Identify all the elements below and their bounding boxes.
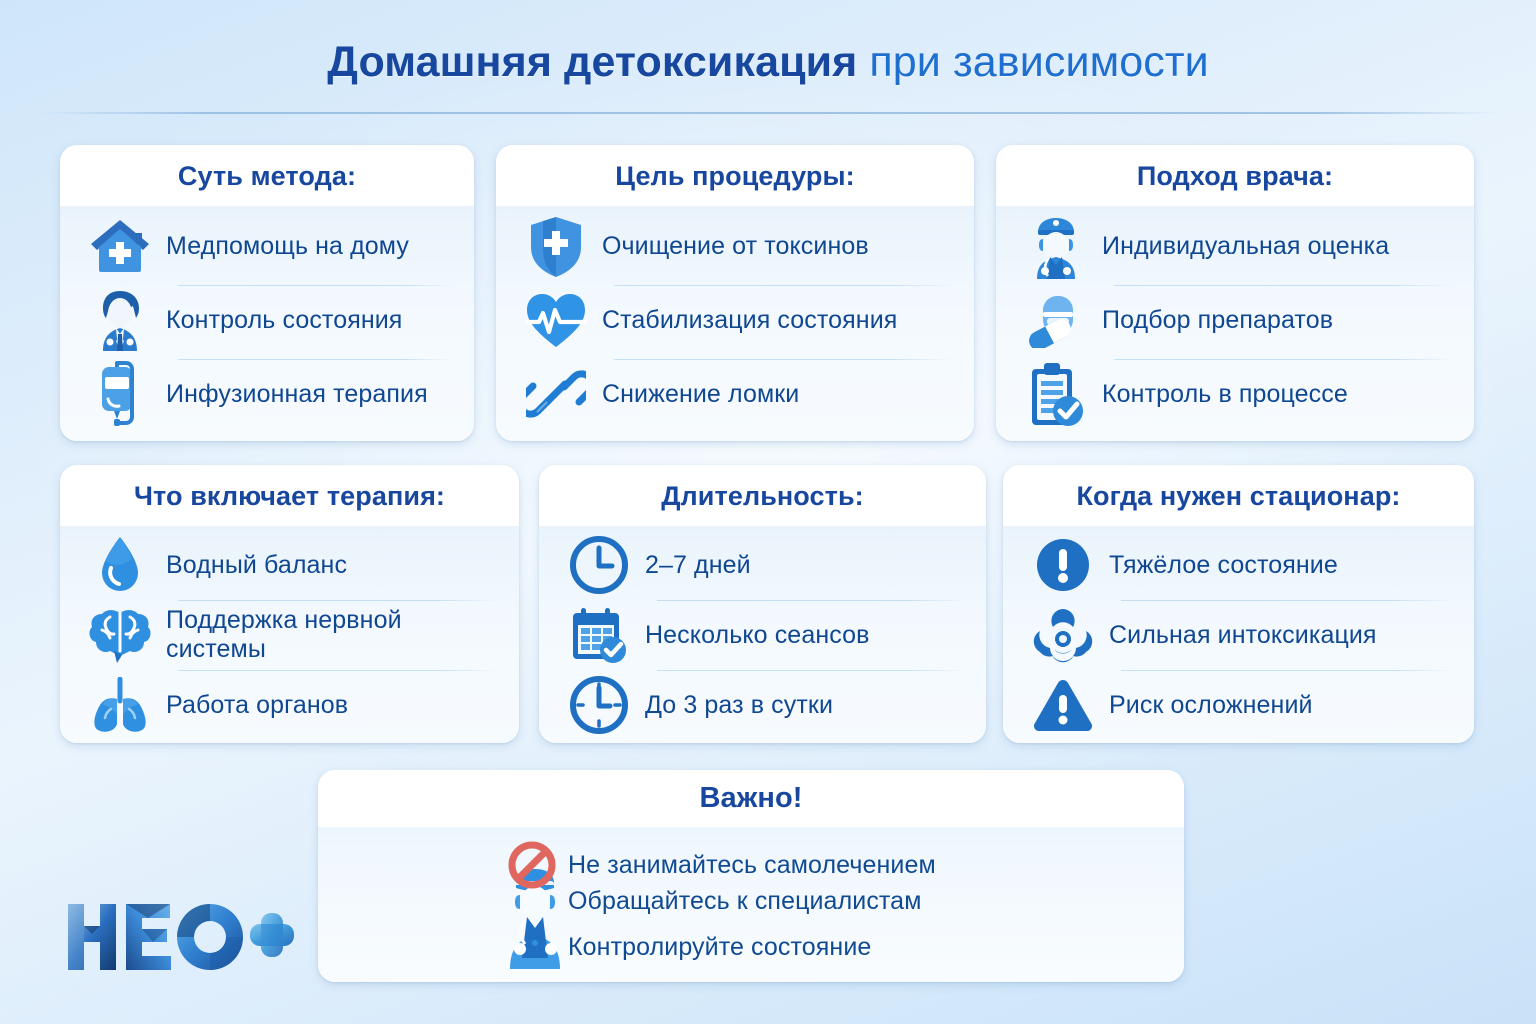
clipboard-check-icon	[1010, 361, 1102, 427]
list-item-label: Инфузионная терапия	[166, 380, 428, 409]
list-item-label: Водный баланс	[166, 551, 347, 580]
list-item-label: Снижение ломки	[602, 380, 799, 409]
list-item-label: Контроль состояния	[166, 306, 402, 335]
doctor-stethoscope-icon	[1010, 215, 1102, 279]
list-item[interactable]: Водный баланс	[74, 530, 501, 600]
list-item-label: Сильная интоксикация	[1109, 621, 1377, 650]
list-item[interactable]: Очищение от токсинов	[510, 212, 956, 282]
list-item-label: 2–7 дней	[645, 551, 751, 580]
list-item-label: Контролируйте состояние	[568, 933, 871, 962]
list-item-label: Контроль в процессе	[1102, 380, 1348, 409]
list-item-label: До 3 раз в сутки	[645, 691, 833, 720]
card-heading: Важно!	[318, 770, 1184, 827]
card-dlitelnost: Длительность: 2–7 дней	[539, 465, 986, 743]
list-item-label: Несколько сеансов	[645, 621, 870, 650]
card-body: 2–7 дней Несколько сеансо	[539, 526, 986, 743]
list-item[interactable]: Подбор препаратов	[1010, 285, 1456, 355]
card-chto-vklyuchaet-terapiya: Что включает терапия: Водный баланс	[60, 465, 519, 743]
card-heading: Длительность:	[539, 465, 986, 526]
list-item-label: Стабилизация состояния	[602, 306, 897, 335]
card-podhod-vracha: Подход врача: Индивидуальная оцен	[996, 145, 1474, 441]
chain-link-icon	[510, 365, 602, 423]
card-body: Водный баланс Поддержка нервной системы	[60, 526, 519, 743]
shield-cross-icon	[510, 215, 602, 279]
page-title-light: при зависимости	[869, 38, 1208, 86]
card-body: Тяжёлое состояние Сильная инто	[1003, 526, 1474, 743]
list-item[interactable]: Снижение ломки	[510, 359, 956, 429]
card-body: Очищение от токсинов Стабилизация состоя…	[496, 206, 974, 441]
clock-icon	[553, 536, 645, 594]
list-item[interactable]: Поддержка нервной системы	[74, 600, 501, 670]
doctor-person-icon	[74, 289, 166, 351]
brand-logo	[66, 898, 296, 976]
list-item[interactable]: Риск осложнений	[1017, 670, 1456, 740]
lungs-icon	[74, 677, 166, 733]
list-item-label: Подбор препаратов	[1102, 306, 1333, 335]
list-item-label: Поддержка нервной системы	[166, 606, 501, 664]
page-title: Домашняя детоксикация при зависимости	[0, 38, 1536, 86]
list-item[interactable]: Контроль в процессе	[1010, 359, 1456, 429]
card-sut-metoda: Суть метода: Медпомощь на дому	[60, 145, 474, 441]
card-heading: Подход врача:	[996, 145, 1474, 206]
card-body: Индивидуальная оценка Подбор препаратов	[996, 206, 1474, 441]
list-item-label: Обращайтесь к специалистам	[568, 887, 921, 916]
list-item[interactable]: 2–7 дней	[553, 530, 968, 600]
prohibition-icon	[496, 841, 568, 889]
list-item[interactable]: Контроль состояния	[74, 285, 456, 355]
exclamation-circle-icon	[1017, 536, 1109, 594]
card-heading: Когда нужен стационар:	[1003, 465, 1474, 526]
list-item-label: Риск осложнений	[1109, 691, 1313, 720]
card-kogda-nuzhen-stacionar: Когда нужен стационар: Тяжёлое состояние	[1003, 465, 1474, 743]
list-item[interactable]: Тяжёлое состояние	[1017, 530, 1456, 600]
list-item[interactable]: Стабилизация состояния	[510, 285, 956, 355]
clock-dashed-icon	[553, 676, 645, 734]
page-title-strong: Домашняя детоксикация	[327, 38, 857, 86]
list-item[interactable]: До 3 раз в сутки	[553, 670, 968, 740]
pills-icon	[1010, 292, 1102, 348]
list-item[interactable]: Медпомощь на дому	[74, 212, 456, 282]
card-heading: Суть метода:	[60, 145, 474, 206]
important-list: Не занимайтесь самолечением Обращайтесь …	[318, 827, 1184, 982]
brain-icon	[74, 606, 166, 664]
calendar-check-icon	[553, 606, 645, 664]
card-body: Не занимайтесь самолечением Обращайтесь …	[318, 827, 1184, 982]
card-heading: Цель процедуры:	[496, 145, 974, 206]
card-body: Медпомощь на дому Контроль состояния	[60, 206, 474, 441]
list-item[interactable]: Инфузионная терапия	[74, 359, 456, 429]
list-item-label: Индивидуальная оценка	[1102, 232, 1389, 261]
list-item[interactable]: Контролируйте состояние	[496, 933, 871, 962]
list-item[interactable]: Сильная интоксикация	[1017, 600, 1456, 670]
list-item[interactable]: Несколько сеансов	[553, 600, 968, 670]
card-vazhno: Важно!	[318, 770, 1184, 982]
list-item-label: Медпомощь на дому	[166, 232, 409, 261]
heart-pulse-icon	[510, 291, 602, 349]
biohazard-icon	[1017, 605, 1109, 665]
water-drop-icon	[74, 535, 166, 595]
list-item[interactable]: Обращайтесь к специалистам	[496, 887, 921, 916]
list-item[interactable]: Работа органов	[74, 670, 501, 740]
iv-drip-icon	[74, 361, 166, 427]
card-heading: Что включает терапия:	[60, 465, 519, 526]
list-item-label: Работа органов	[166, 691, 348, 720]
house-medical-icon	[74, 217, 166, 277]
list-item-label: Очищение от токсинов	[602, 232, 869, 261]
list-item-label: Не занимайтесь самолечением	[568, 851, 936, 880]
list-item-label: Тяжёлое состояние	[1109, 551, 1338, 580]
warning-triangle-icon	[1017, 677, 1109, 733]
card-cel-procedury: Цель процедуры: Очищение от токсинов Ста…	[496, 145, 974, 441]
list-item[interactable]: Не занимайтесь самолечением	[496, 841, 936, 889]
title-divider	[36, 112, 1498, 114]
list-item[interactable]: Индивидуальная оценка	[1010, 212, 1456, 282]
